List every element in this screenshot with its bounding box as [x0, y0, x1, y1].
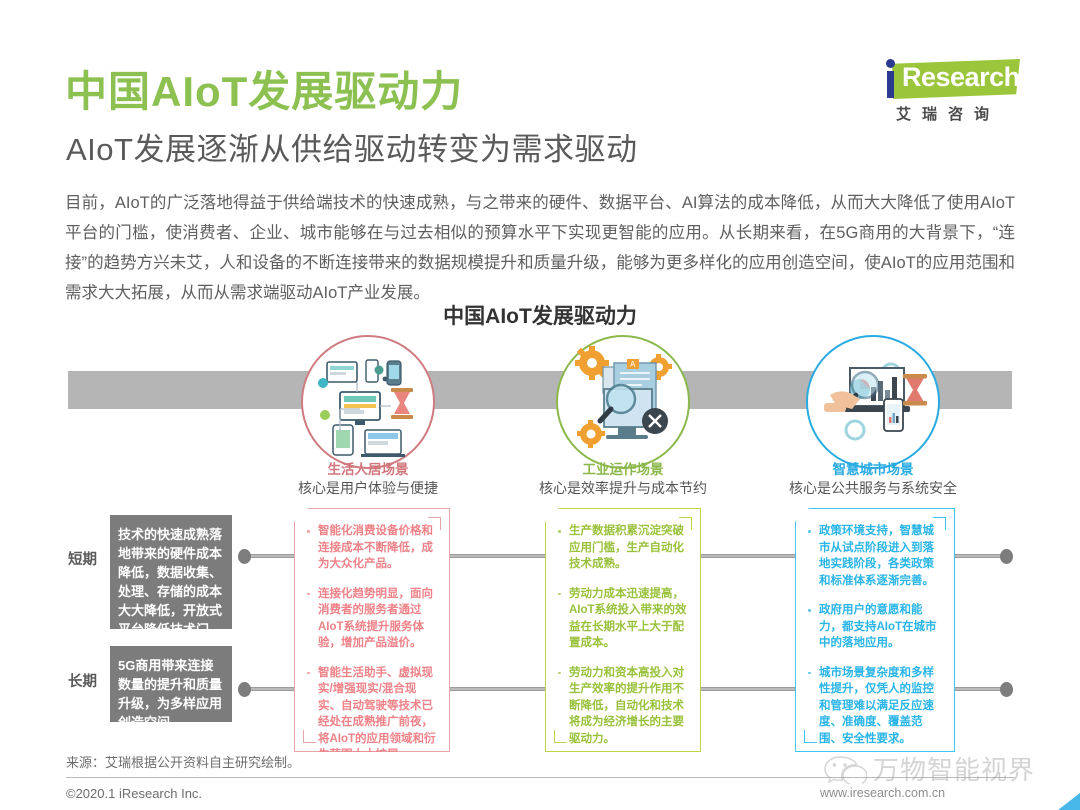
smart-home-devices-icon: [303, 337, 433, 467]
page-subtitle: AIoT发展逐渐从供给驱动转变为需求驱动: [66, 124, 637, 169]
list-item: 城市场景复杂度和多样性提升，仅凭人的监控和管理难以满足反应速度、准确度、覆盖范围…: [806, 665, 944, 748]
source-note: 来源：艾瑞根据公开资料自主研究绘制。: [66, 752, 300, 771]
copyright-text: ©2020.1 iResearch Inc.: [66, 786, 202, 801]
logo-brand-cn: 艾瑞咨询: [896, 103, 1000, 124]
list-item: 连接化趋势明显，面向消费者的服务者通过AIoT系统提升服务体验，增加产品溢价。: [305, 586, 439, 652]
content-box-city: 政策环境支持，智慧城市从试点阶段进入到落地实践阶段，各类政策和标准体系逐渐完善。…: [795, 508, 955, 752]
list-item: 劳动力成本迅速提高，AIoT系统投入带来的效益在长期水平上大于配置成本。: [556, 586, 690, 652]
list-item: 智能化消费设备价格和连接成本不断降低，成为大众化产品。: [305, 523, 439, 573]
list-item: 政策环境支持，智慧城市从试点阶段进入到落地实践阶段，各类政策和标准体系逐渐完善。: [806, 523, 944, 589]
list-item: 政府用户的意愿和能力，都支持AIoT在城市中的落地应用。: [806, 602, 944, 652]
connector-line: [701, 687, 797, 691]
corner-decoration: [968, 740, 1080, 810]
website-url: www.iresearch.com.cn: [820, 786, 945, 800]
bullet-list-city: 政策环境支持，智慧城市从试点阶段进入到落地实践阶段，各类政策和标准体系逐渐完善。…: [806, 523, 944, 747]
connector-line: [701, 554, 797, 558]
city-analytics-icon: [808, 337, 938, 467]
scene-circle-industry: A: [556, 335, 690, 469]
slide-page: 中国AIoT发展驱动力 AIoT发展逐渐从供给驱动转变为需求驱动 Researc…: [0, 0, 1080, 810]
bullet-list-industry: 生产数据积累沉淀突破应用门槛，生产自动化技术成熟。 劳动力成本迅速提高，AIoT…: [556, 523, 690, 747]
scene-circle-home: [301, 335, 435, 469]
content-box-home: 智能化消费设备价格和连接成本不断降低，成为大众化产品。 连接化趋势明显，面向消费…: [294, 508, 450, 752]
industrial-gears-monitor-icon: A: [558, 337, 688, 467]
scene-label-city: 智慧城市场景: [723, 458, 1023, 478]
connector-dot: [238, 549, 251, 564]
logo-brand-text: Research: [902, 62, 1020, 93]
scene-desc-city: 核心是公共服务与系统安全: [723, 478, 1023, 498]
list-item: 生产数据积累沉淀突破应用门槛，生产自动化技术成熟。: [556, 523, 690, 573]
svg-text:A: A: [630, 360, 636, 369]
content-box-industry: 生产数据积累沉淀突破应用门槛，生产自动化技术成熟。 劳动力成本迅速提高，AIoT…: [545, 508, 701, 752]
deco-band-blue: [974, 784, 1080, 810]
connector-line: [450, 687, 547, 691]
row-label-short-term: 短期: [68, 548, 97, 569]
connector-line: [450, 554, 547, 558]
bullet-list-home: 智能化消费设备价格和连接成本不断降低，成为大众化产品。 连接化趋势明显，面向消费…: [305, 523, 439, 764]
intro-paragraph: 目前，AIoT的广泛落地得益于供给端技术的快速成熟，与之带来的硬件、数据平台、A…: [65, 188, 1015, 308]
list-item: 劳动力和资本高投入对生产效率的提升作用不断降低，自动化和技术将成为经济增长的主要…: [556, 665, 690, 748]
logo-i-stem-icon: [887, 71, 894, 98]
driver-box-long-term: 5G商用带来连接数量的提升和质量升级，为多样应用创造空间。: [110, 646, 232, 722]
connector-dot: [1000, 682, 1013, 697]
connector-dot: [238, 682, 251, 697]
iresearch-logo: Research 艾瑞咨询: [872, 57, 1022, 127]
page-number: 28: [1039, 778, 1063, 804]
connector-dot: [1000, 549, 1013, 564]
chart-title: 中国AIoT发展驱动力: [0, 300, 1080, 330]
list-item: 智能生活助手、虚拟现实/增强现实/混合现实、自动驾驶等技术已经处在成熟推广前夜，…: [305, 665, 439, 764]
scene-circle-city: [806, 335, 940, 469]
connector-line: [244, 554, 300, 558]
connector-line: [244, 687, 300, 691]
page-title: 中国AIoT发展驱动力: [65, 58, 463, 119]
driver-box-short-term: 技术的快速成熟落地带来的硬件成本降低，数据收集、处理、存储的成本大大降低，开放式…: [110, 515, 232, 629]
logo-i-dot-icon: [886, 59, 895, 68]
wechat-icon: [823, 754, 867, 784]
row-label-long-term: 长期: [68, 670, 97, 691]
